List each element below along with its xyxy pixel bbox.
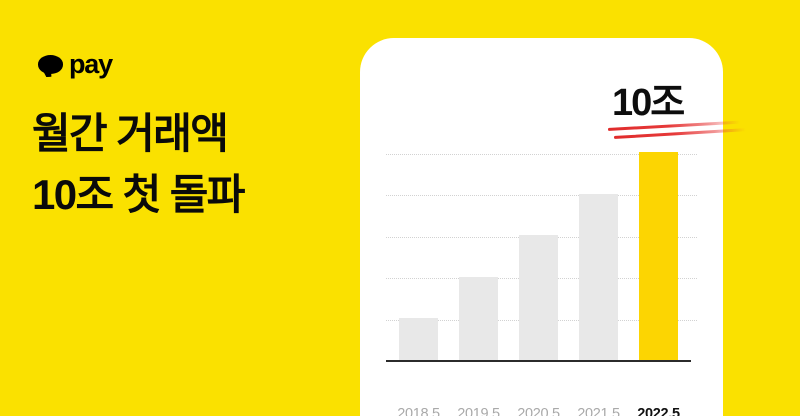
- x-axis-line: [386, 360, 691, 363]
- x-tick-label-2019.5: 2019.5: [449, 406, 509, 416]
- x-tick-label-2022.5: 2022.5: [629, 406, 689, 416]
- bar-2022.5: [639, 152, 678, 359]
- callout-underline-lower: [614, 128, 746, 139]
- speech-bubble-tail: [42, 68, 52, 78]
- headline-line-2: 10조 첫 돌파: [32, 165, 244, 226]
- x-axis-labels: 2018.52019.52020.52021.52022.5: [386, 406, 697, 416]
- callout-value-label: 10조: [612, 84, 683, 122]
- brand-wordmark: pay: [69, 51, 112, 80]
- bar-2020.5: [519, 235, 558, 359]
- value-callout: 10조: [612, 84, 800, 144]
- bar-2018.5: [399, 318, 438, 359]
- bars-layer: [386, 132, 697, 360]
- x-tick-label-2018.5: 2018.5: [389, 406, 449, 416]
- infographic-canvas: pay 월간 거래액 10조 첫 돌파 2018.52019.52020.520…: [0, 0, 800, 416]
- bar-2021.5: [579, 194, 618, 360]
- speech-bubble-icon: [38, 55, 63, 75]
- bar-chart-plot: [386, 134, 697, 362]
- headline-line-1: 월간 거래액: [32, 104, 244, 165]
- x-tick-label-2021.5: 2021.5: [569, 406, 629, 416]
- kakaopay-logo: pay: [38, 50, 112, 80]
- bar-2019.5: [459, 277, 498, 360]
- x-tick-label-2020.5: 2020.5: [509, 406, 569, 416]
- headline-panel: pay 월간 거래액 10조 첫 돌파: [0, 0, 360, 416]
- page-title: 월간 거래액 10조 첫 돌파: [32, 104, 244, 226]
